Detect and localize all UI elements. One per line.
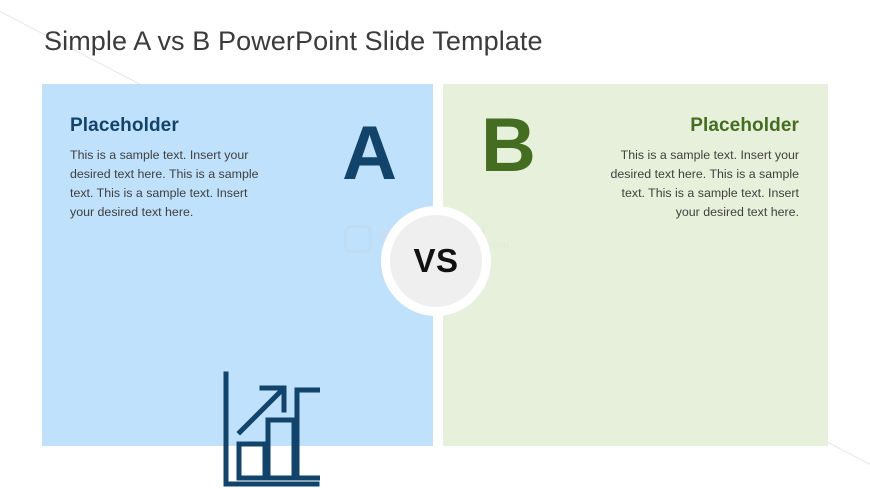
panel-b-body-text: This is a sample text. Insert your desir… xyxy=(601,146,799,221)
panel-option-b[interactable]: Placeholder This is a sample text. Inser… xyxy=(443,84,828,446)
panel-a-letter: A xyxy=(342,116,397,192)
panel-b-letter: B xyxy=(481,108,536,184)
vs-badge-inner-circle: VS xyxy=(390,215,482,307)
panel-b-heading: Placeholder xyxy=(690,115,799,137)
growth-bar-chart-icon xyxy=(220,370,320,489)
panel-a-heading: Placeholder xyxy=(70,115,179,137)
slide-canvas: Simple A vs B PowerPoint Slide Template … xyxy=(0,0,870,489)
vs-label: VS xyxy=(413,242,458,280)
vs-badge: VS xyxy=(381,206,491,316)
panel-option-a[interactable]: Placeholder This is a sample text. Inser… xyxy=(42,84,433,446)
panel-a-body-text: This is a sample text. Insert your desir… xyxy=(70,146,268,221)
page-title: Simple A vs B PowerPoint Slide Template xyxy=(44,26,543,57)
